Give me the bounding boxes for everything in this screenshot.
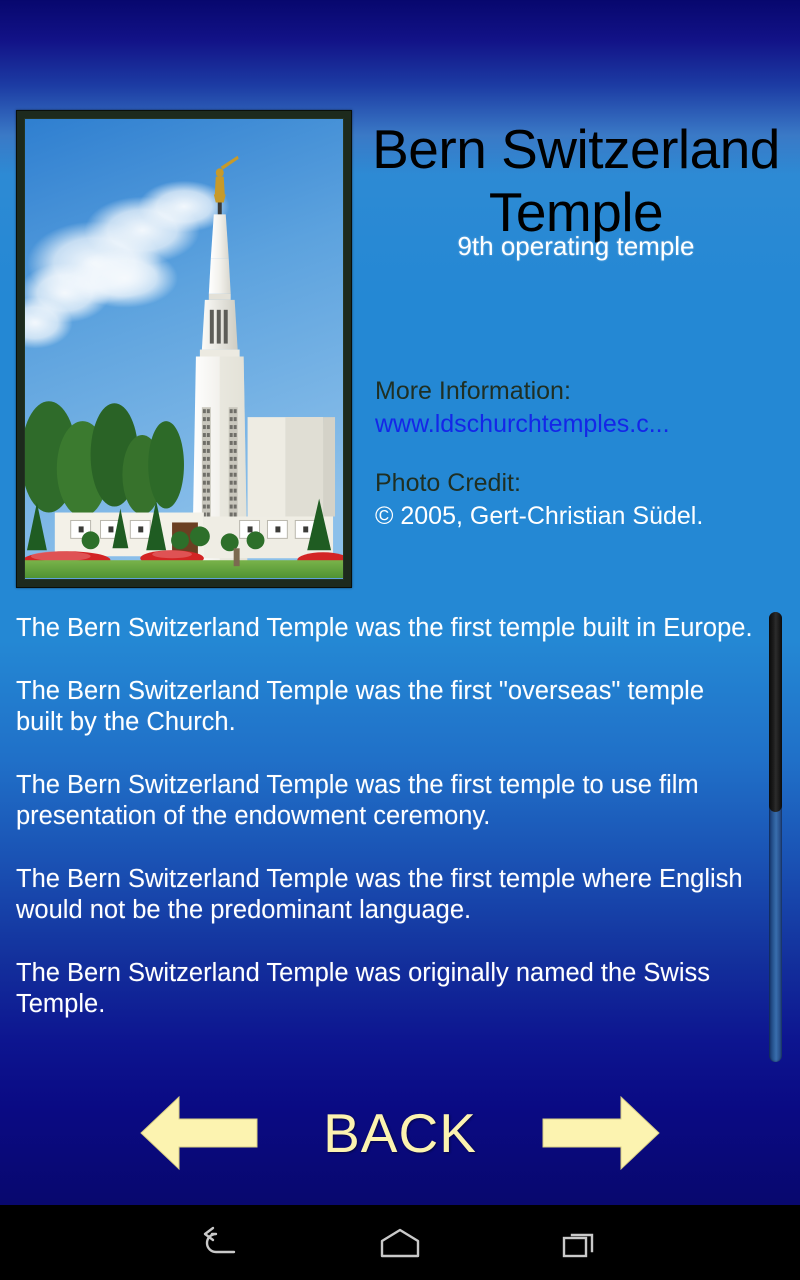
system-recents-button[interactable] [551, 1219, 609, 1267]
fact-paragraph: The Bern Switzerland Temple was original… [16, 958, 754, 1021]
photo-credit-value: © 2005, Gert-Christian Südel. [375, 500, 795, 533]
title-block: Bern Switzerland Temple 9th operating te… [360, 118, 792, 260]
app-content: Bern Switzerland Temple 9th operating te… [0, 0, 800, 1205]
screen: Bern Switzerland Temple 9th operating te… [0, 0, 800, 1280]
fact-paragraph: The Bern Switzerland Temple was the firs… [16, 676, 754, 739]
info-block: More Information: www.ldschurchtemples.c… [375, 375, 795, 533]
info-spacer [375, 441, 795, 467]
navigation-bar: BACK [0, 1070, 800, 1195]
home-icon [379, 1227, 421, 1259]
scrollbar[interactable] [769, 612, 782, 1062]
page-title: Bern Switzerland Temple [360, 118, 792, 244]
right-arrow-icon [537, 1093, 667, 1173]
fact-paragraph: The Bern Switzerland Temple was the firs… [16, 613, 754, 645]
bern-switzerland-temple-image [25, 119, 343, 578]
more-information-label: More Information: [375, 375, 795, 408]
back-icon [200, 1226, 240, 1260]
temple-subtitle: 9th operating temple [360, 232, 792, 260]
temple-photo-frame[interactable] [16, 110, 352, 588]
android-system-nav [0, 1205, 800, 1280]
more-information-link[interactable]: www.ldschurchtemples.c... [375, 408, 795, 441]
facts-scroll-area[interactable]: The Bern Switzerland Temple was the firs… [0, 605, 800, 1065]
recents-icon [561, 1226, 599, 1260]
left-arrow-icon [133, 1093, 263, 1173]
scrollbar-thumb[interactable] [769, 612, 782, 812]
previous-button[interactable] [133, 1093, 263, 1173]
system-back-button[interactable] [191, 1219, 249, 1267]
header-section: Bern Switzerland Temple 9th operating te… [0, 0, 800, 600]
photo-credit-label: Photo Credit: [375, 467, 795, 500]
back-button[interactable]: BACK [323, 1104, 477, 1162]
temple-photo [24, 118, 344, 580]
system-home-button[interactable] [371, 1219, 429, 1267]
facts-list: The Bern Switzerland Temple was the firs… [16, 613, 754, 1021]
fact-paragraph: The Bern Switzerland Temple was the firs… [16, 864, 754, 927]
fact-paragraph: The Bern Switzerland Temple was the firs… [16, 770, 754, 833]
next-button[interactable] [537, 1093, 667, 1173]
